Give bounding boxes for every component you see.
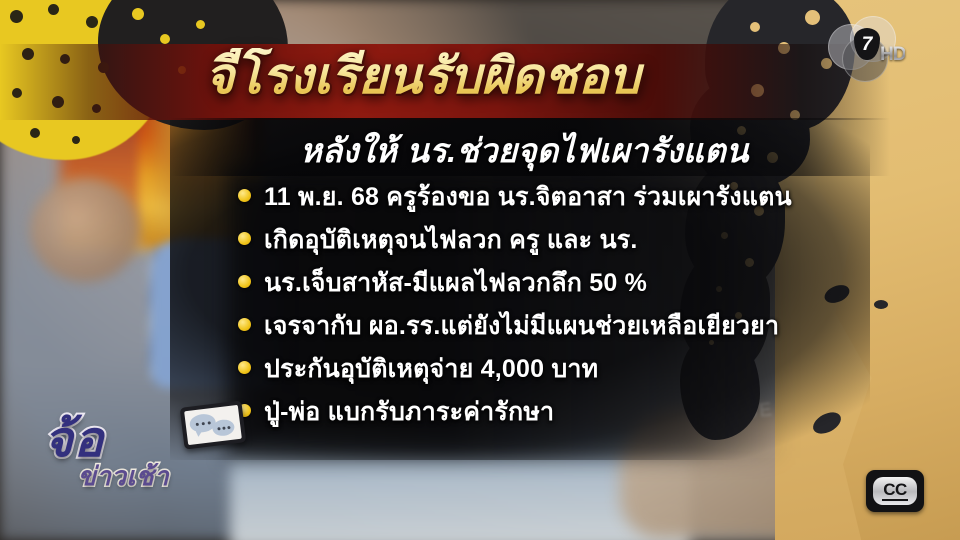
news-bullet-list: 11 พ.ย. 68 ครูร้องขอ นร.จิตอาสา ร่วมเผาร… bbox=[238, 182, 878, 440]
bullet-text: ประกันอุบัติเหตุจ่าย 4,000 บาท bbox=[264, 354, 598, 384]
list-item: ปู่-พ่อ แบกรับภาระค่ารักษา bbox=[238, 397, 878, 427]
list-item: นร.เจ็บสาหัส-มีแผลไฟลวกลึก 50 % bbox=[238, 268, 878, 298]
bullet-marker-icon bbox=[238, 361, 251, 374]
broadcast-news-screen: NURSE bbox=[0, 0, 960, 540]
program-logo-subtitle: ข่าวเช้า bbox=[78, 456, 169, 497]
list-item: เจรจากับ ผอ.รร.แต่ยังไม่มีแผนช่วยเหลือเย… bbox=[238, 311, 878, 341]
program-logo: จ้อ ข่าวเช้า bbox=[36, 398, 236, 510]
tablet-chat-icon bbox=[180, 400, 247, 449]
bullet-marker-icon bbox=[238, 232, 251, 245]
closed-caption-plate: CC bbox=[873, 477, 917, 505]
photo-figure-head bbox=[30, 178, 140, 282]
hd-badge: HD bbox=[880, 44, 905, 66]
bullet-text: 11 พ.ย. 68 ครูร้องขอ นร.จิตอาสา ร่วมเผาร… bbox=[264, 182, 792, 212]
bullet-text: ปู่-พ่อ แบกรับภาระค่ารักษา bbox=[264, 397, 554, 427]
bullet-text: นร.เจ็บสาหัส-มีแผลไฟลวกลึก 50 % bbox=[264, 268, 647, 298]
headline-text: จี้โรงเรียนรับผิดชอบ bbox=[205, 48, 845, 104]
bullet-text: เกิดอุบัติเหตุจนไฟลวก ครู และ นร. bbox=[264, 225, 638, 255]
closed-caption-icon: CC bbox=[866, 470, 924, 512]
channel-number: 7 bbox=[862, 35, 873, 54]
tablet-screen bbox=[184, 405, 242, 445]
list-item: ประกันอุบัติเหตุจ่าย 4,000 บาท bbox=[238, 354, 878, 384]
bullet-marker-icon bbox=[238, 275, 251, 288]
bullet-marker-icon bbox=[238, 189, 251, 202]
list-item: เกิดอุบัติเหตุจนไฟลวก ครู และ นร. bbox=[238, 225, 878, 255]
closed-caption-label: CC bbox=[882, 481, 908, 501]
bullet-text: เจรจากับ ผอ.รร.แต่ยังไม่มีแผนช่วยเหลือเย… bbox=[264, 311, 779, 341]
bullet-marker-icon bbox=[238, 318, 251, 331]
subheadline-text: หลังให้ นร.ช่วยจุดไฟเผารังแตน bbox=[300, 124, 900, 177]
list-item: 11 พ.ย. 68 ครูร้องขอ นร.จิตอาสา ร่วมเผาร… bbox=[238, 182, 878, 212]
